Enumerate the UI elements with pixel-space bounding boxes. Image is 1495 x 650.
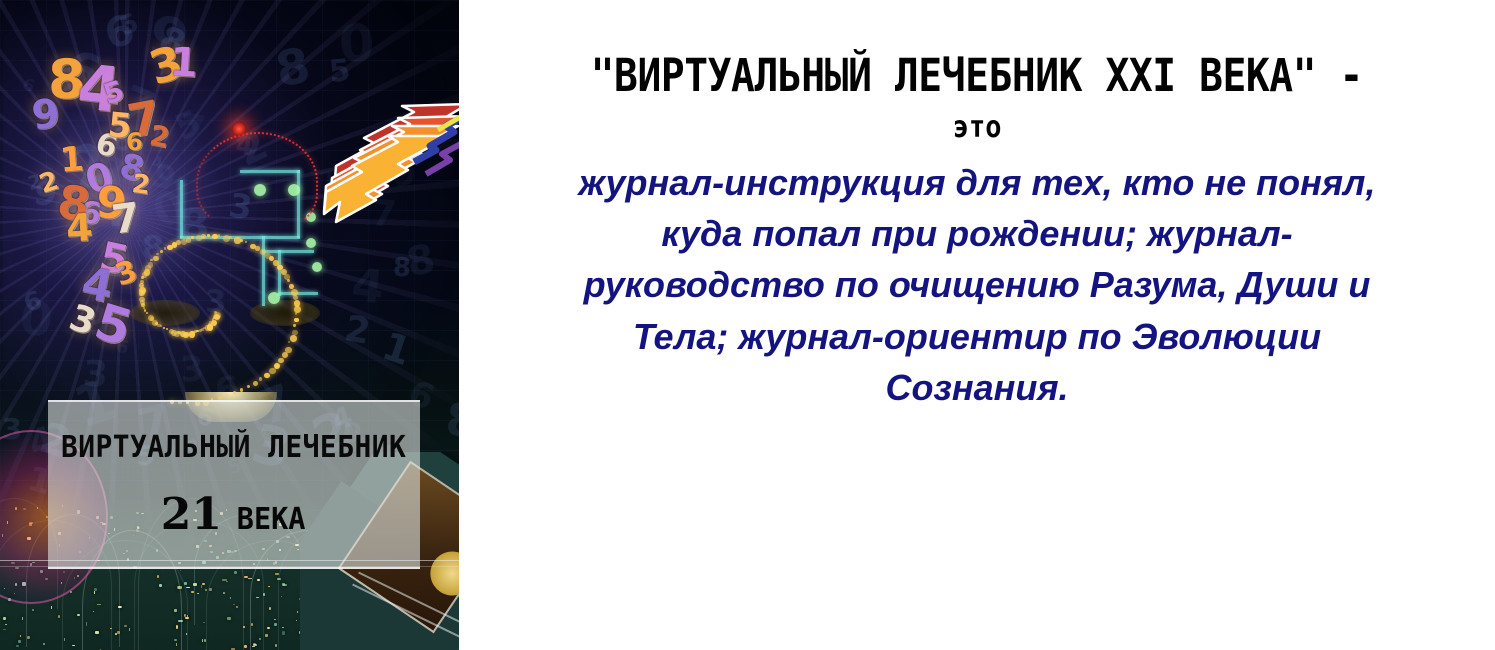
foreground-digit: 5 <box>95 234 132 285</box>
foreground-digit: 2 <box>130 169 152 201</box>
foreground-digit: 6 <box>78 195 102 232</box>
foreground-digit: 8 <box>48 48 86 111</box>
cover-subtitle: 21 ВЕКА <box>161 493 307 537</box>
promo-banner-page: 2373246886365871964705845873970280546882… <box>0 0 1495 650</box>
foreground-digit: 2 <box>147 118 172 154</box>
copula-text: это <box>953 113 1002 143</box>
foreground-digit: 1 <box>58 139 85 181</box>
cover-title-banner: ВИРТУАЛЬНЫЙ ЛЕЧЕБНИК 21 ВЕКА <box>48 400 420 569</box>
description-line: руководство по очищению Разума, Души и <box>459 259 1495 310</box>
foreground-digit: 4 <box>74 50 125 127</box>
foreground-digit: 8 <box>54 174 94 232</box>
foreground-digit: 3 <box>111 254 142 294</box>
foreground-digit: 9 <box>93 176 129 230</box>
foreground-digit: 6 <box>125 127 144 156</box>
cover-century-word: ВЕКА <box>237 505 306 535</box>
horizontal-rule <box>0 566 459 567</box>
description-line: Тела; журнал-ориентир по Эволюции <box>459 311 1495 362</box>
description-line: Сознания. <box>459 362 1495 413</box>
foreground-digit: 9 <box>29 90 63 139</box>
cover-century-number: 21 <box>161 493 222 537</box>
foreground-digit: 1 <box>169 39 200 87</box>
foreground-digit: 3 <box>64 297 101 344</box>
foreground-digit: 8 <box>116 146 148 190</box>
foreground-digit: 4 <box>77 257 117 313</box>
foreground-digit: 0 <box>80 153 118 203</box>
foreground-digit: 2 <box>36 166 63 200</box>
horizontal-rule <box>0 560 459 561</box>
foreground-digit: 5 <box>106 105 133 147</box>
page-title: "ВИРТУАЛЬНЫЙ ЛЕЧЕБНИК XXI ВЕКА" - <box>591 52 1363 99</box>
foreground-digit: 5 <box>88 292 138 358</box>
cover-title: ВИРТУАЛЬНЫЙ ЛЕЧЕБНИК <box>61 433 406 463</box>
foreground-digit: 5 <box>99 74 128 111</box>
foreground-digit: 3 <box>143 35 189 96</box>
foreground-digit: 7 <box>109 194 143 243</box>
promo-text-column: "ВИРТУАЛЬНЫЙ ЛЕЧЕБНИК XXI ВЕКА" - это жу… <box>459 0 1495 650</box>
magazine-cover-image: 2373246886365871964705845873970280546882… <box>0 0 459 650</box>
description-line: куда попал при рождении; журнал- <box>459 208 1495 259</box>
description-text: журнал-инструкция для тех, кто не понял,… <box>459 157 1495 413</box>
foreground-digit: 7 <box>123 90 164 149</box>
foreground-digit: 6 <box>92 126 122 165</box>
description-line: журнал-инструкция для тех, кто не понял, <box>459 157 1495 208</box>
foreground-digit: 4 <box>65 205 94 251</box>
